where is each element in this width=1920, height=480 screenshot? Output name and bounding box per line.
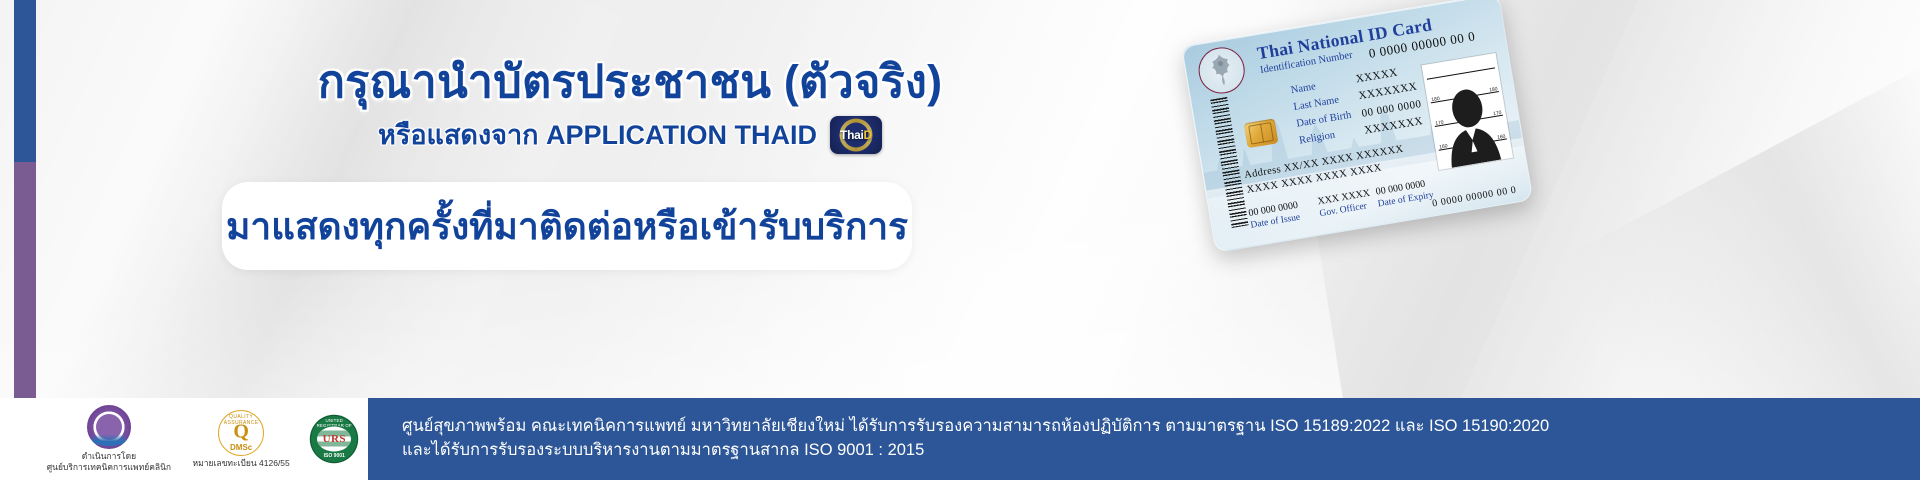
callout-pill-text: มาแสดงทุกครั้งที่มาติดต่อหรือเข้ารับบริก… [226,197,908,256]
cmu-seal-icon [87,405,131,449]
footer-text-line-2: และได้รับการรับรองระบบบริหารงานตามมาตรฐา… [402,439,1920,463]
logo-cmu-clinic: ดำเนินการโดย ศูนย์บริการเทคนิคการแพทย์คล… [47,405,171,472]
logo-dmsc: QUALITY ASSURANCE Q DMSc หมายเลขทะเบียน … [193,410,290,469]
logo-cmu-caption-line2: ศูนย์บริการเทคนิคการแพทย์คลินิก [47,462,171,473]
dmsc-q-letter: Q [233,420,249,443]
dmsc-sub-text: DMSc [219,443,263,452]
thaid-app-icon: ThaiD [830,116,882,154]
promo-banner: กรุณานำบัตรประชาชน (ตัวจริง) หรือแสดงจาก… [0,0,1920,480]
headline-primary: กรุณานำบัตรประชาชน (ตัวจริง) [180,56,1080,108]
urs-center-text: URS [311,433,357,445]
garuda-emblem-icon [1195,44,1248,97]
footer-logo-strip: ดำเนินการโดย ศูนย์บริการเทคนิคการแพทย์คล… [36,398,368,480]
garuda-svg [1201,49,1243,92]
photo-silhouette-icon [1435,82,1505,169]
footer: ดำเนินการโดย ศูนย์บริการเทคนิคการแพทย์คล… [0,398,1920,480]
logo-dmsc-caption: หมายเลขทะเบียน 4126/55 [193,458,290,469]
headline-secondary: หรือแสดงจาก APPLICATION THAID [378,119,817,151]
thaid-label-accent: D [864,128,872,142]
card-field-label-name: Name [1290,81,1317,96]
cmu-seal-wave [92,434,126,446]
dmsc-seal-icon: QUALITY ASSURANCE Q DMSc [218,410,264,456]
headline-group: กรุณานำบัตรประชาชน (ตัวจริง) หรือแสดงจาก… [180,56,1080,154]
card-field-value-name: XXXXX [1355,67,1399,86]
callout-pill: มาแสดงทุกครั้งที่มาติดต่อหรือเข้ารับบริก… [222,182,912,270]
accent-bar-blue [14,0,36,162]
photo-rule-top [1427,67,1495,79]
logo-urs: UNITED REGISTRAR OF SYSTEMS URS ISO 9001 [311,416,357,462]
logo-cmu-caption: ดำเนินการโดย ศูนย์บริการเทคนิคการแพทย์คล… [47,451,171,472]
background-facet-6 [1560,62,1920,398]
footer-text-line-1: ศูนย์สุขภาพพร้อม คณะเทคนิคการแพทย์ มหาวิ… [402,415,1920,439]
headline-secondary-row: หรือแสดงจาก APPLICATION THAID ThaiD [180,116,1080,154]
logo-cmu-caption-line1: ดำเนินการโดย [47,451,171,462]
urs-arc-bottom: ISO 9001 [311,453,357,459]
thaid-icon-label: ThaiD [830,128,882,142]
footer-text-band: ศูนย์สุขภาพพร้อม คณะเทคนิคการแพทย์ มหาวิ… [368,398,1920,480]
accent-bar-purple [14,162,36,398]
urs-seal-icon: UNITED REGISTRAR OF SYSTEMS URS ISO 9001 [311,416,357,462]
thaid-label-main: Thai [840,128,863,142]
card-smart-chip [1244,118,1279,148]
